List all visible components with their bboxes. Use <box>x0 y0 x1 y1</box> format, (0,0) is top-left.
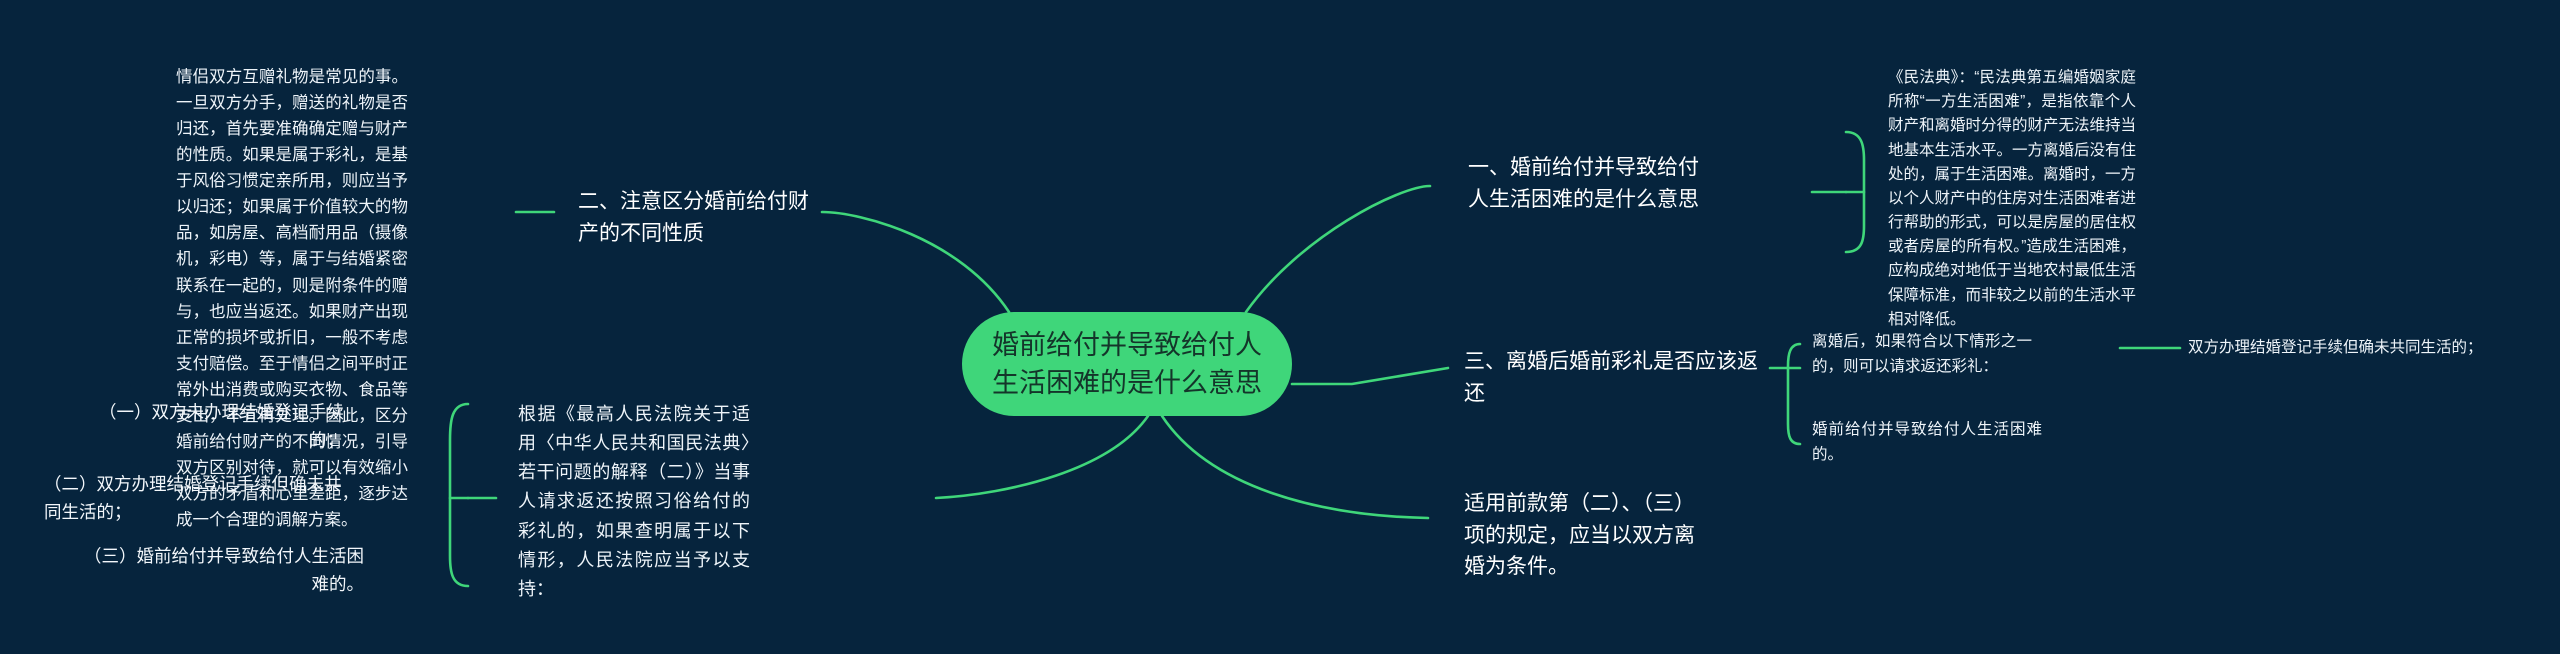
detail-paragraph-right-2b[interactable]: 婚前给付并导致给付人生活困难的。 <box>1812 418 2042 468</box>
detail-paragraph-right-2a[interactable]: 离婚后，如果符合以下情形之一的，则可以请求返还彩礼： <box>1812 330 2032 380</box>
list-item[interactable]: （一）双方未办理结婚登记手续的； <box>84 398 344 454</box>
detail-paragraph-right-1[interactable]: 《民法典》：“民法典第五编婚姻家庭所称“一方生活困难”，是指依靠个人财产和离婚时… <box>1888 66 2136 332</box>
detail-paragraph-left[interactable]: 情侣双方互赠礼物是常见的事。一旦双方分手，赠送的礼物是否归还，首先要准确确定赠与… <box>176 64 408 533</box>
link-root-right1 <box>1246 186 1430 312</box>
topic-node-right-2[interactable]: 三、离婚后婚前彩礼是否应该返还 <box>1464 346 1764 409</box>
link-right1-brace <box>1846 132 1864 252</box>
link-root-right3 <box>1162 416 1428 518</box>
topic-node-left[interactable]: 二、注意区分婚前给付财产的不同性质 <box>578 186 810 249</box>
topic-node-right-1[interactable]: 一、婚前给付并导致给付人生活困难的是什么意思 <box>1468 152 1710 215</box>
mindmap-canvas: 婚前给付并导致给付人生活困难的是什么意思 二、注意区分婚前给付财产的不同性质 情… <box>0 0 2560 654</box>
list-item[interactable]: （二）双方办理结婚登记手续但确未共同生活的； <box>44 470 344 526</box>
root-node[interactable]: 婚前给付并导致给付人生活困难的是什么意思 <box>962 312 1292 416</box>
link-root-bottomleft <box>936 416 1148 498</box>
link-root-left <box>822 212 1009 312</box>
topic-node-right-3[interactable]: 适用前款第（二）、（三）项的规定，应当以双方离婚为条件。 <box>1464 488 1714 583</box>
detail-paragraph-far-right[interactable]: 双方办理结婚登记手续但确未共同生活的； <box>2188 336 2518 361</box>
detail-paragraph-bottom-left[interactable]: 根据《最高人民法院关于适用〈中华人民共和国民法典〉若干问题的解释（二）》当事人请… <box>518 400 750 604</box>
link-brace-left-items <box>450 404 468 586</box>
link-root-right2 <box>1292 368 1448 384</box>
link-right2-brace <box>1788 344 1800 444</box>
list-item[interactable]: （三）婚前给付并导致给付人生活困难的。 <box>84 542 364 598</box>
